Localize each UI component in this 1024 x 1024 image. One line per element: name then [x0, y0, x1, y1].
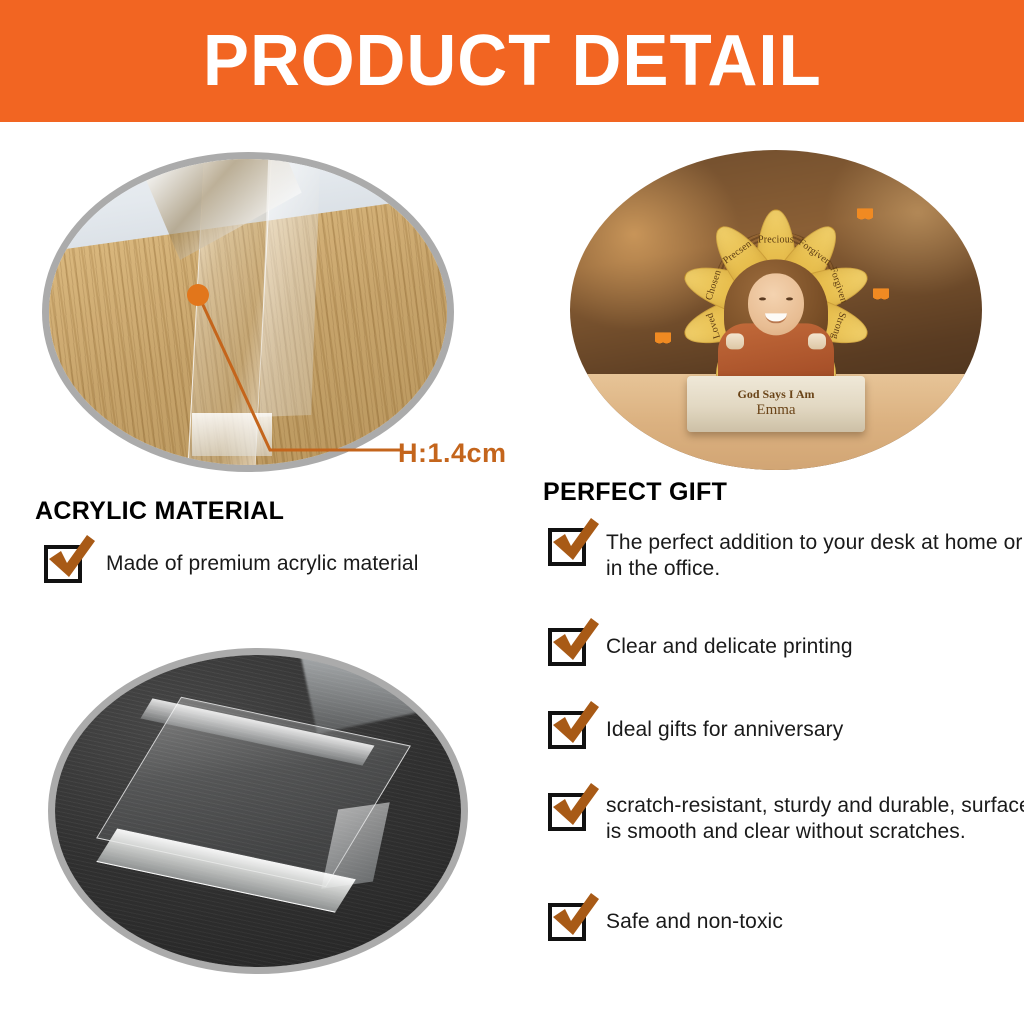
petal-word: Forgiven	[796, 237, 833, 268]
dimension-label: H:1.4cm	[398, 438, 507, 469]
photo-acrylic-block-edge-content	[49, 159, 447, 465]
butterfly-icon	[857, 208, 873, 220]
photo-acrylic-block-edge	[42, 152, 454, 472]
acrylic-block-base-edge	[192, 413, 272, 456]
smile	[765, 313, 787, 323]
feature-text: Ideal gifts for anniversary	[606, 711, 1024, 743]
figurine-nameplate: God Says I Am Emma	[687, 376, 865, 432]
feature-item: The perfect addition to your desk at hom…	[548, 528, 1024, 582]
sleeve-cuff-left	[726, 333, 744, 349]
feature-item: Made of premium acrylic material	[44, 545, 546, 583]
check-icon	[549, 701, 601, 749]
petal-word: Precsen	[721, 238, 754, 266]
petal-word: Chosen	[704, 269, 724, 302]
butterfly-icon	[873, 288, 889, 300]
petal-word: Forgiven	[827, 266, 849, 305]
product-detail-infographic: PRODUCT DETAIL H:1.4cm Precious Forgiven…	[0, 0, 1024, 1024]
check-icon	[549, 518, 601, 566]
petal-word: Precious	[758, 234, 794, 245]
photo-sunflower-figurine: Precious Forgiven Forgiven Strong Unique…	[570, 150, 982, 470]
feature-item: Ideal gifts for anniversary	[548, 711, 1024, 749]
section-heading-perfect-gift: PERFECT GIFT	[543, 478, 727, 507]
feature-text: scratch-resistant, sturdy and durable, s…	[606, 793, 1024, 845]
feature-text: Safe and non-toxic	[606, 903, 1024, 935]
checkbox[interactable]	[44, 545, 82, 583]
nameplate-line-1: God Says I Am	[737, 388, 814, 402]
section-heading-acrylic-material: ACRYLIC MATERIAL	[35, 497, 284, 526]
feature-item: Clear and delicate printing	[548, 628, 1024, 666]
nameplate-line-2: Emma	[756, 402, 795, 419]
checkbox[interactable]	[548, 528, 586, 566]
check-icon	[549, 783, 601, 831]
dimension-callout-dot	[187, 284, 209, 306]
checkbox[interactable]	[548, 628, 586, 666]
petal-word: Strong	[829, 311, 848, 341]
check-icon	[45, 535, 97, 583]
acrylic-block-side-face	[259, 159, 320, 417]
eye-left	[759, 297, 766, 300]
butterfly-icon	[655, 332, 671, 344]
feature-text: Clear and delicate printing	[606, 628, 1024, 660]
page-title: PRODUCT DETAIL	[203, 25, 822, 97]
checkbox[interactable]	[548, 711, 586, 749]
check-icon	[549, 893, 601, 941]
feature-item: scratch-resistant, sturdy and durable, s…	[548, 793, 1024, 845]
feature-text: Made of premium acrylic material	[106, 545, 546, 577]
petal-word: Loved	[704, 311, 723, 340]
feature-item: Safe and non-toxic	[548, 903, 1024, 941]
checkbox[interactable]	[548, 793, 586, 831]
checkbox[interactable]	[548, 903, 586, 941]
girl-face	[748, 273, 804, 335]
sleeve-cuff-right	[808, 333, 826, 349]
feature-text: The perfect addition to your desk at hom…	[606, 528, 1024, 582]
photo-acrylic-slab	[48, 648, 468, 974]
photo-acrylic-slab-content	[55, 655, 461, 967]
header-banner: PRODUCT DETAIL	[0, 0, 1024, 122]
eye-right	[786, 297, 793, 300]
check-icon	[549, 618, 601, 666]
